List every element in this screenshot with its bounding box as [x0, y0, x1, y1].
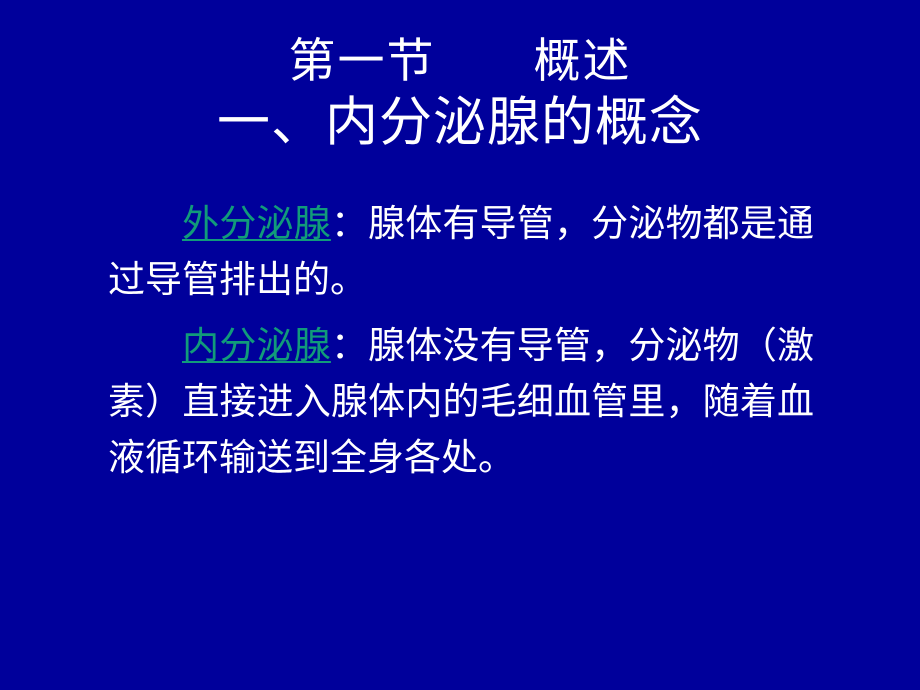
slide-body: 外分泌腺：腺体有导管，分泌物都是通过导管排出的。 内分泌腺：腺体没有导管，分泌物… — [108, 196, 814, 486]
page-subtitle: 一、内分泌腺的概念 — [0, 92, 920, 154]
term-exocrine-gland: 外分泌腺 — [182, 202, 331, 245]
slide-title-block: 第一节 概述 一、内分泌腺的概念 — [0, 34, 920, 154]
paragraph-endocrine: 内分泌腺：腺体没有导管，分泌物（激素）直接进入腺体内的毛细血管里，随着血液循环输… — [108, 318, 814, 486]
term-endocrine-gland: 内分泌腺 — [182, 324, 331, 367]
term-separator: ： — [331, 202, 368, 245]
slide-canvas: 第一节 概述 一、内分泌腺的概念 外分泌腺：腺体有导管，分泌物都是通过导管排出的… — [0, 0, 920, 690]
page-title: 第一节 概述 — [0, 34, 920, 90]
term-separator: ： — [331, 324, 368, 367]
paragraph-exocrine: 外分泌腺：腺体有导管，分泌物都是通过导管排出的。 — [108, 196, 814, 308]
